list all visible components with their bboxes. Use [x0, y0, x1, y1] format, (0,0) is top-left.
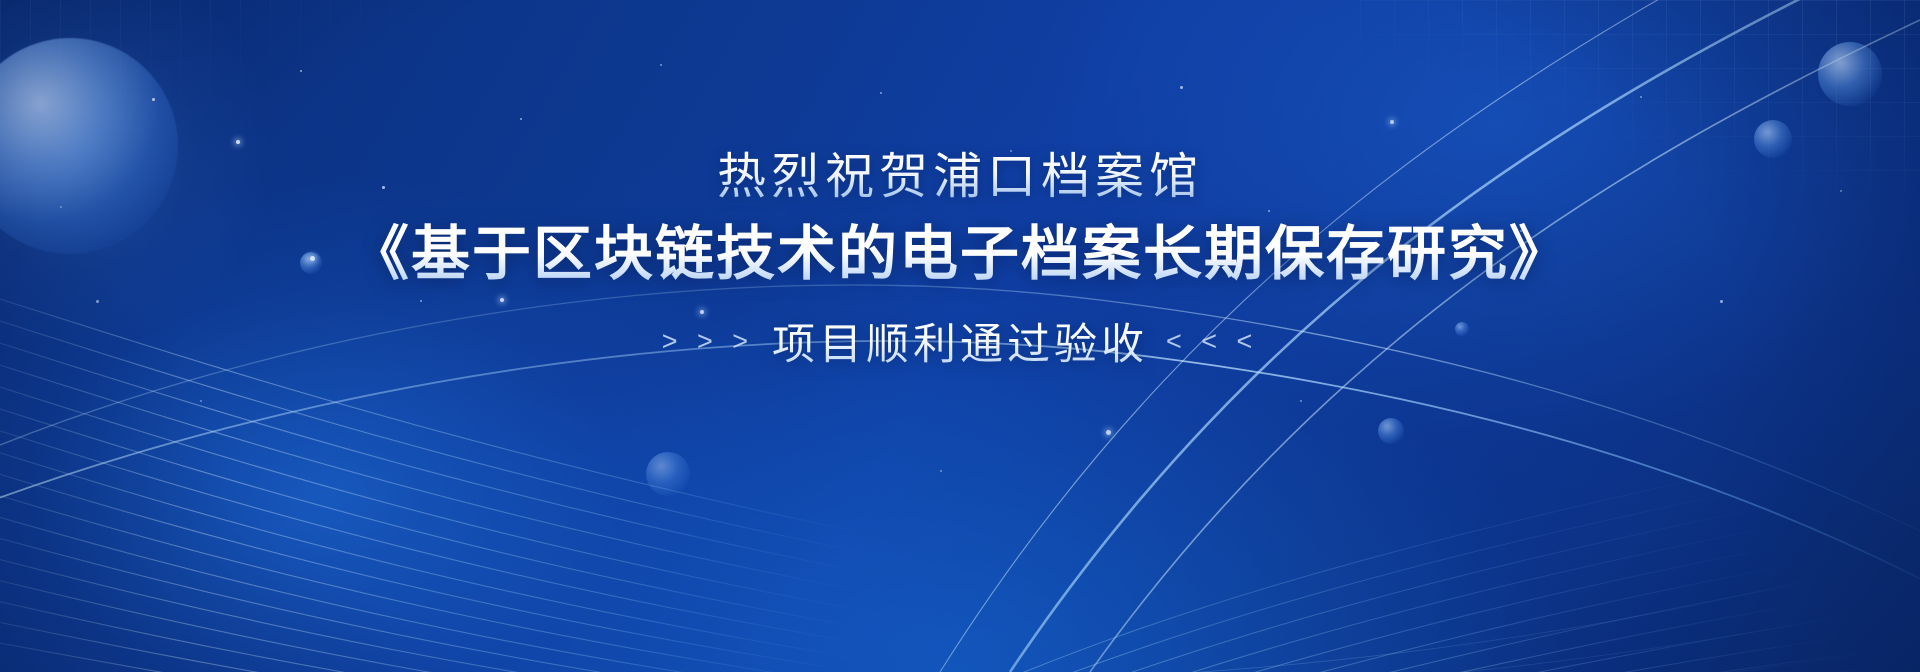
orb-icon — [646, 452, 690, 496]
orb-icon — [1818, 42, 1882, 106]
perspective-mesh-icon — [930, 382, 1920, 672]
wire-grid-icon — [0, 0, 420, 150]
promotional-banner: 热烈祝贺浦口档案馆 《基于区块链技术的电子档案长期保存研究》 > > > 项目顺… — [0, 0, 1920, 672]
headline-block: 热烈祝贺浦口档案馆 《基于区块链技术的电子档案长期保存研究》 > > > 项目顺… — [0, 150, 1920, 372]
chevron-left-marker-icon: < < < — [1166, 326, 1258, 357]
subline-text: 项目顺利通过验收 — [772, 310, 1148, 372]
subline-row: > > > 项目顺利通过验收 < < < — [0, 310, 1920, 372]
headline-line-1: 热烈祝贺浦口档案馆 — [0, 150, 1920, 205]
headline-line-2: 《基于区块链技术的电子档案长期保存研究》 — [0, 221, 1920, 288]
chevron-right-marker-icon: > > > — [662, 326, 754, 357]
orb-icon — [1378, 418, 1404, 444]
